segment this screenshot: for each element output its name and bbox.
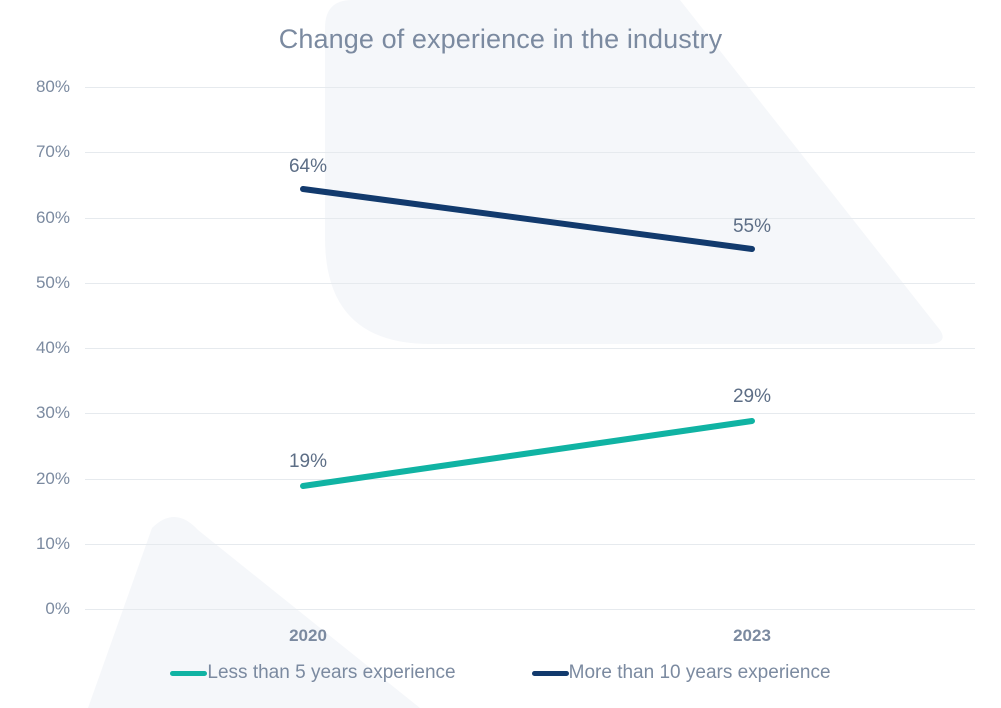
gridline [85, 218, 975, 219]
data-label-more-2020: 64% [289, 156, 327, 178]
gridline [85, 152, 975, 153]
gridline [85, 544, 975, 545]
gridline [85, 479, 975, 480]
data-label-more-2023: 55% [733, 216, 771, 238]
y-axis-tick-40: 40% [0, 338, 70, 358]
gridline [85, 87, 975, 88]
legend-label: Less than 5 years experience [207, 662, 455, 684]
gridline [85, 283, 975, 284]
y-axis-tick-50: 50% [0, 273, 70, 293]
gridline [85, 609, 975, 610]
x-axis-tick-2023: 2023 [733, 626, 771, 646]
legend-label: More than 10 years experience [569, 662, 831, 684]
y-axis-tick-80: 80% [0, 77, 70, 97]
gridline [85, 413, 975, 414]
chart-legend: Less than 5 years experience More than 1… [0, 662, 1001, 684]
chart-container: Change of experience in the industry 80%… [0, 0, 1001, 708]
y-axis-tick-10: 10% [0, 534, 70, 554]
legend-item-less-than-5-years[interactable]: Less than 5 years experience [170, 662, 455, 684]
plot-area [85, 87, 975, 609]
chart-title: Change of experience in the industry [0, 24, 1001, 55]
legend-line-icon [170, 671, 207, 676]
legend-item-more-than-10-years[interactable]: More than 10 years experience [532, 662, 831, 684]
y-axis-tick-0: 0% [0, 599, 70, 619]
y-axis-tick-70: 70% [0, 142, 70, 162]
y-axis-tick-60: 60% [0, 208, 70, 228]
legend-line-icon [532, 671, 569, 676]
data-label-less-2020: 19% [289, 451, 327, 473]
y-axis-tick-30: 30% [0, 403, 70, 423]
x-axis-tick-2020: 2020 [289, 626, 327, 646]
y-axis-tick-20: 20% [0, 469, 70, 489]
gridline [85, 348, 975, 349]
data-label-less-2023: 29% [733, 386, 771, 408]
